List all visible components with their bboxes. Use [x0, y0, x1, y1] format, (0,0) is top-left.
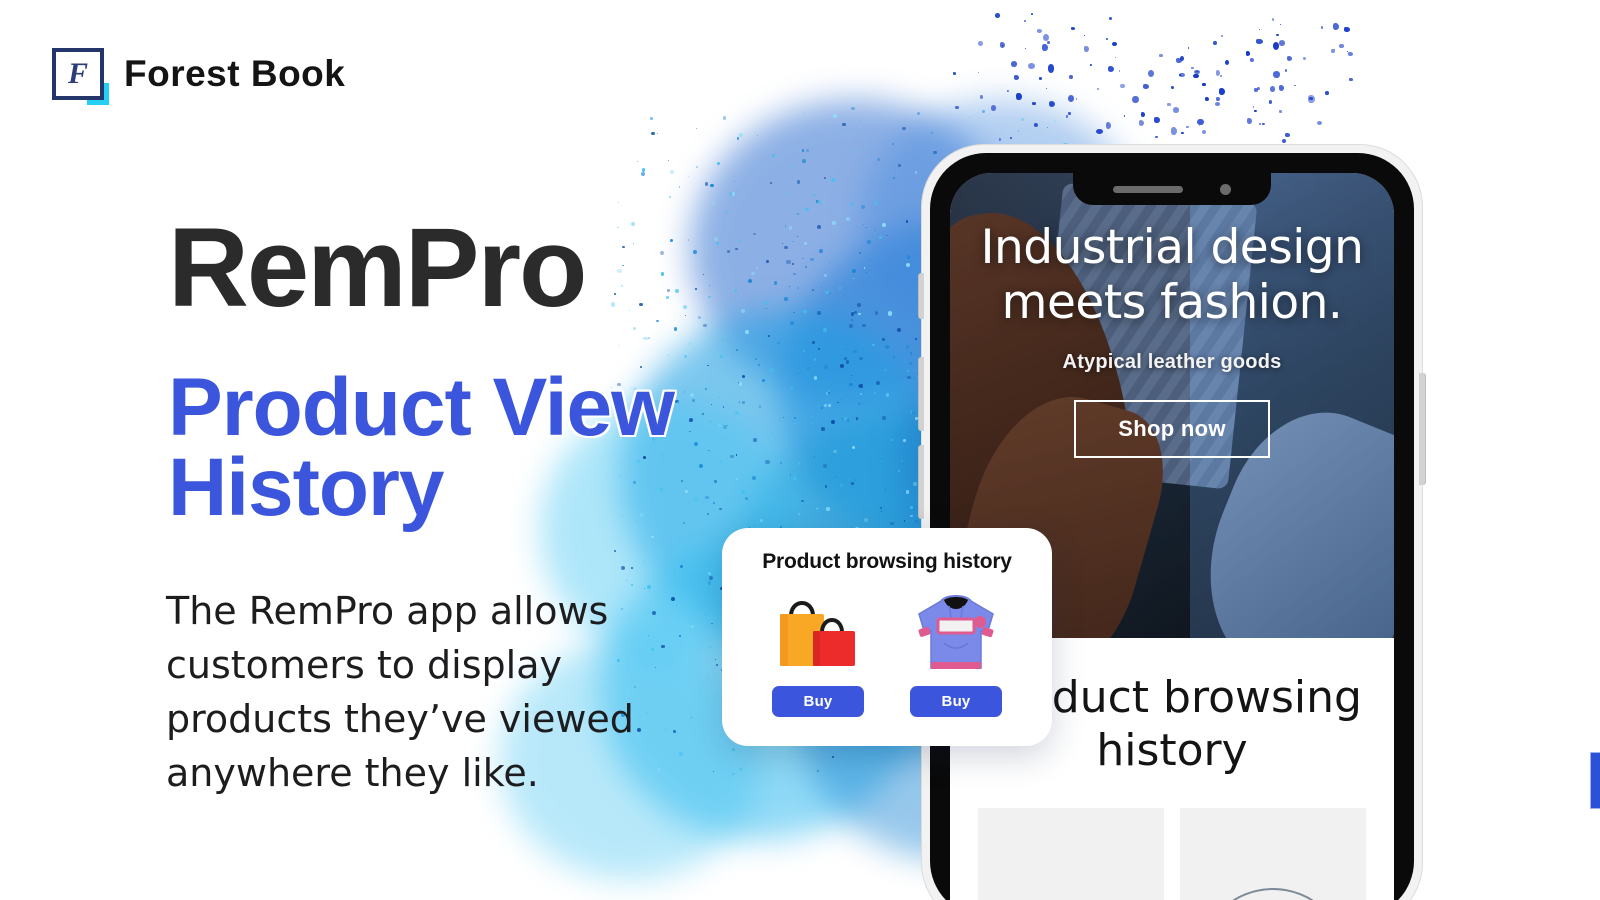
hero-headline-line1: Product View — [168, 362, 674, 453]
product-outline-icon — [1198, 888, 1348, 900]
shop-now-button[interactable]: Shop now — [1074, 400, 1270, 458]
brand-name: Forest Book — [124, 53, 345, 95]
list-item: Buy — [772, 586, 864, 717]
phone-power-button[interactable] — [1419, 373, 1425, 485]
phone-mockup: Industrial design meets fashion. Atypica… — [922, 145, 1422, 900]
product-tile[interactable] — [1180, 808, 1366, 900]
product-browsing-history-card: Product browsing history Buy — [722, 528, 1052, 746]
hero-headline-line2: History — [168, 442, 444, 533]
brand-logo[interactable]: F Forest Book — [52, 48, 345, 100]
forest-book-logo-icon: F — [52, 48, 104, 100]
history-card-title: Product browsing history — [722, 528, 1052, 574]
phone-volume-down-button[interactable] — [919, 445, 924, 519]
earpiece-speaker-icon — [1113, 186, 1183, 193]
logo-cyan-corner-accent — [87, 83, 109, 105]
app-hero-subtitle: Atypical leather goods — [950, 351, 1394, 374]
shopping-bags-icon — [772, 586, 864, 678]
hero-description: The RemPro app allows customers to displ… — [166, 585, 646, 801]
accent-tab[interactable] — [1590, 752, 1600, 809]
phone-body: Industrial design meets fashion. Atypica… — [930, 153, 1414, 900]
app-hero-content: Industrial design meets fashion. Atypica… — [950, 221, 1394, 458]
phone-notch — [1073, 173, 1271, 205]
promo-banner: F Forest Book RemPro Product View Histor… — [0, 0, 1600, 900]
phone-volume-up-button[interactable] — [919, 357, 924, 431]
app-hero-title-line1: Industrial design — [981, 220, 1364, 275]
page-title: RemPro — [168, 212, 585, 324]
app-history-title-line2: history — [1096, 725, 1247, 776]
phone-silent-switch[interactable] — [919, 273, 924, 319]
product-tile[interactable] — [978, 808, 1164, 900]
app-hero-title: Industrial design meets fashion. — [950, 221, 1394, 330]
front-camera-icon — [1220, 184, 1231, 195]
list-item: Buy — [910, 586, 1002, 717]
hero-headline: Product View History — [168, 368, 848, 529]
buy-button[interactable]: Buy — [772, 686, 864, 717]
app-product-tile-grid — [950, 778, 1394, 900]
app-hero-title-line2: meets fashion. — [1002, 275, 1343, 330]
history-card-items: Buy Buy — [722, 586, 1052, 717]
buy-button[interactable]: Buy — [910, 686, 1002, 717]
hoodie-icon — [910, 586, 1002, 678]
